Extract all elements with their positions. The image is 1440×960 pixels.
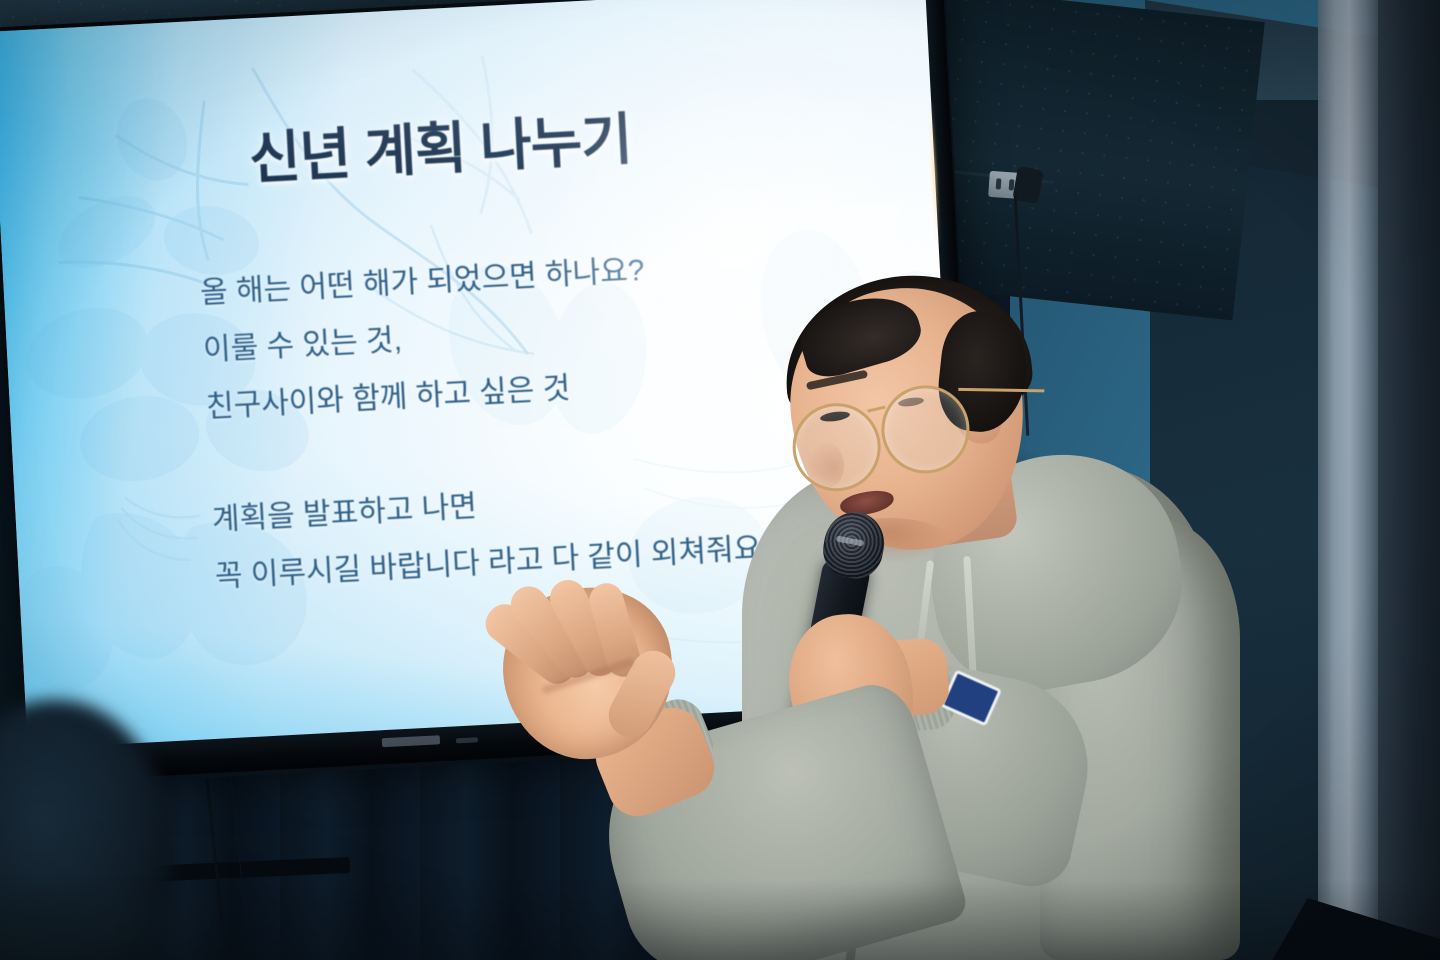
glasses-temple-arm — [958, 388, 1044, 393]
audience-member-shoulder — [0, 900, 220, 960]
glasses-lens-right — [878, 382, 973, 477]
glasses-bridge — [867, 406, 885, 413]
glasses-lens-left — [789, 400, 884, 495]
glasses-icon — [782, 373, 1011, 502]
photo-scene: 신년 계획 나누기 올 해는 어떤 해가 되었으면 하나요? 이룰 수 있는 것… — [0, 0, 1440, 960]
presenter: NW — [0, 0, 1440, 960]
